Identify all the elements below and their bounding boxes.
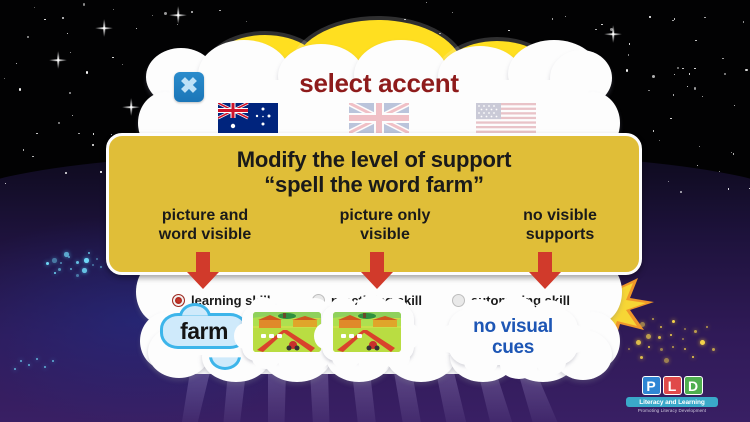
sparkle-star-icon: [612, 33, 614, 35]
australian-flag[interactable]: [218, 103, 278, 133]
overlay-title-line1: Modify the level of support: [109, 147, 639, 172]
farm-illustration: [253, 312, 321, 352]
uk-flag[interactable]: [349, 103, 409, 133]
accent-flag-row: [146, 103, 612, 129]
target-word: farm: [180, 318, 228, 345]
overlay-col2-line2: visible: [295, 225, 475, 244]
us-flag[interactable]: [476, 103, 536, 133]
no-visual-cues-bubble[interactable]: no visual cues: [448, 309, 578, 365]
sparkle-star-icon: [57, 59, 59, 61]
overlay-col3-line2: supports: [475, 225, 645, 244]
skill-level-options: learning skill practising skill automati…: [146, 293, 612, 385]
farm-illustration: [333, 312, 401, 352]
overlay-title-line2: “spell the word farm”: [109, 172, 639, 197]
pld-subtagline: Promoting Literacy Development: [626, 408, 718, 413]
page-title: select accent: [146, 68, 612, 99]
sparkle-star-icon: [130, 106, 132, 108]
overlay-col3-line1: no visible: [475, 206, 645, 225]
overlay-columns: picture and word visible picture only vi…: [109, 206, 639, 244]
radio-automating-skill[interactable]: [452, 294, 465, 307]
pld-tagline: Literacy and Learning: [626, 397, 718, 407]
no-cues-line1: no visual: [473, 316, 553, 337]
pld-letter-p: P: [642, 376, 661, 395]
sparkle-star-icon: [103, 27, 105, 29]
radio-learning-skill[interactable]: [172, 294, 185, 307]
pld-letter-blocks: P L D: [626, 376, 718, 395]
no-cues-line2: cues: [492, 337, 534, 358]
overlay-col1-line1: picture and: [115, 206, 295, 225]
pld-letter-d: D: [684, 376, 703, 395]
sparkle-star-icon: [177, 14, 179, 16]
picture-bubble-practising[interactable]: [322, 305, 414, 361]
down-arrow-icon: [360, 252, 394, 290]
overlay-column: picture and word visible: [115, 206, 295, 244]
pld-letter-l: L: [663, 376, 682, 395]
down-arrow-icon: [186, 252, 220, 290]
overlay-column: no visible supports: [475, 206, 645, 244]
app-stage: gs: [0, 0, 750, 422]
pld-logo: P L D Literacy and Learning Promoting Li…: [626, 376, 718, 416]
overlay-col1-line2: word visible: [115, 225, 295, 244]
overlay-title: Modify the level of support “spell the w…: [109, 136, 639, 197]
down-arrow-icon: [528, 252, 562, 290]
overlay-col2-line1: picture only: [295, 206, 475, 225]
overlay-column: picture only visible: [295, 206, 475, 244]
